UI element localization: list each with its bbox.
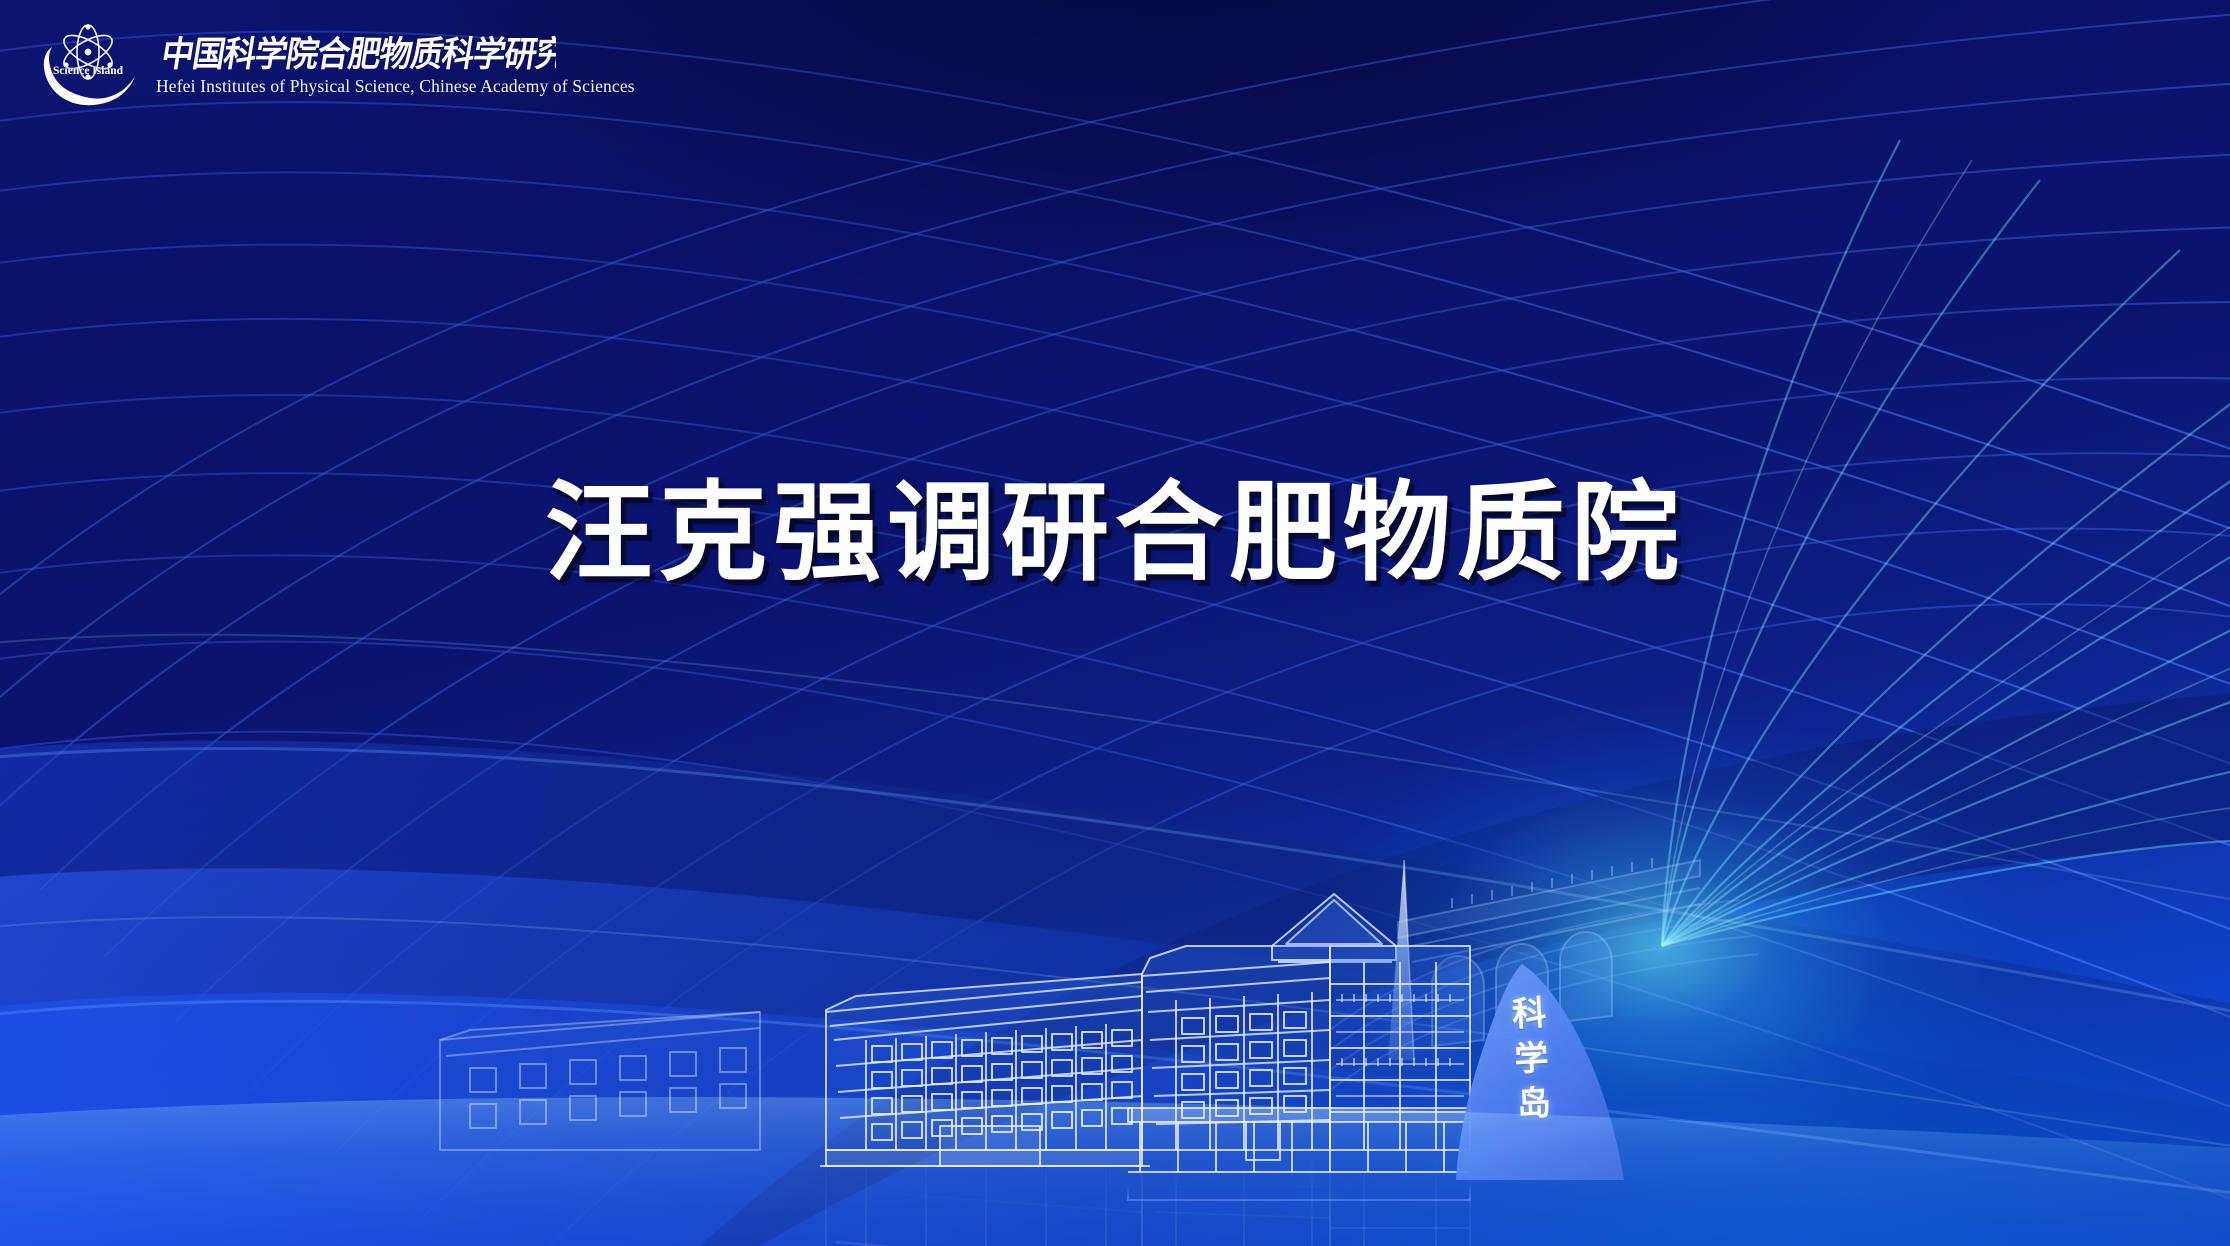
page-title: 汪克强调研合肥物质院 [0,470,2230,597]
organization-logo: Science Island 中国科学院合肥物质科学研究院 Hefei Inst… [34,16,635,108]
organization-name-cn-text: 中国科学院合肥物质科学研究院 [159,34,556,74]
water-reflection [0,0,2230,1246]
title-slide: 科学岛 [0,0,2230,1246]
organization-name-en: Hefei Institutes of Physical Science, Ch… [156,76,635,97]
science-island-atom-crescent-logo: Science Island [34,16,142,108]
svg-text:Science Island: Science Island [53,65,124,77]
organization-name-cn: 中国科学院合肥物质科学研究院 [156,28,556,74]
